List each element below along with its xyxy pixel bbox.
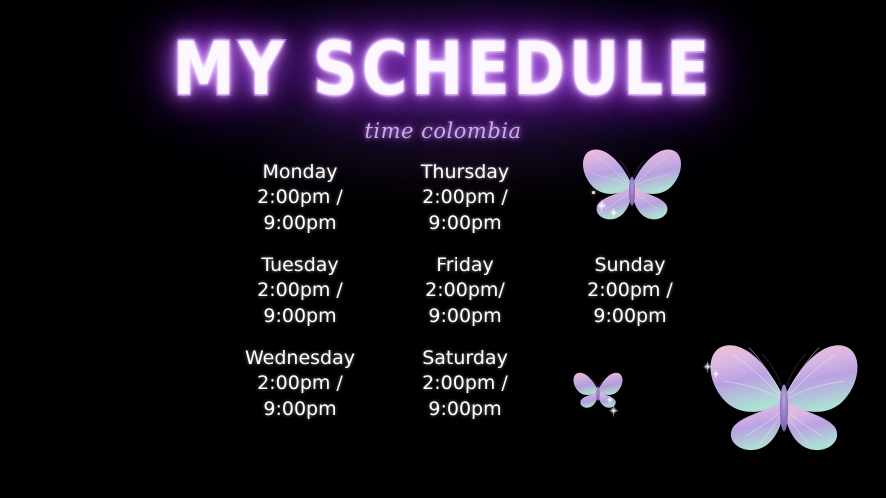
day-label: Wednesday xyxy=(215,346,385,370)
time-line-1: 2:00pm / xyxy=(215,370,385,396)
time-line-1: 2:00pm / xyxy=(215,277,385,303)
time-line-1: 2:00pm / xyxy=(545,277,715,303)
time-line-1: 2:00pm / xyxy=(385,184,545,210)
time-line-1: 2:00pm/ xyxy=(385,277,545,303)
time-line-1: 2:00pm / xyxy=(215,184,385,210)
page-title: MY SCHEDULE xyxy=(0,38,886,100)
time-line-2: 9:00pm xyxy=(385,210,545,236)
day-label: Saturday xyxy=(385,346,545,370)
schedule-entry-wednesday: Wednesday 2:00pm / 9:00pm xyxy=(215,346,385,439)
time-line-1: 2:00pm / xyxy=(385,370,545,396)
time-line-2: 9:00pm xyxy=(385,303,545,329)
schedule-grid: Monday 2:00pm / 9:00pm Thursday 2:00pm /… xyxy=(215,160,715,439)
time-line-2: 9:00pm xyxy=(545,303,715,329)
time-line-2: 9:00pm xyxy=(215,396,385,422)
schedule-entry-thursday: Thursday 2:00pm / 9:00pm xyxy=(385,160,545,253)
day-label: Sunday xyxy=(545,253,715,277)
day-label: Monday xyxy=(215,160,385,184)
schedule-entry-tuesday: Tuesday 2:00pm / 9:00pm xyxy=(215,253,385,346)
time-line-2: 9:00pm xyxy=(215,303,385,329)
page-title-text: MY SCHEDULE xyxy=(173,32,713,105)
schedule-entry-monday: Monday 2:00pm / 9:00pm xyxy=(215,160,385,253)
schedule-entry-saturday: Saturday 2:00pm / 9:00pm xyxy=(385,346,545,439)
time-line-2: 9:00pm xyxy=(385,396,545,422)
day-label: Tuesday xyxy=(215,253,385,277)
schedule-entry-sunday: Sunday 2:00pm / 9:00pm xyxy=(545,253,715,346)
page-subtitle: time colombia xyxy=(0,119,886,143)
butterfly-icon-bottom-right xyxy=(700,334,868,460)
time-line-2: 9:00pm xyxy=(215,210,385,236)
day-label: Thursday xyxy=(385,160,545,184)
day-label: Friday xyxy=(385,253,545,277)
schedule-entry-friday: Friday 2:00pm/ 9:00pm xyxy=(385,253,545,346)
schedule-poster: MY SCHEDULE time colombia Monday 2:00pm … xyxy=(0,0,886,498)
